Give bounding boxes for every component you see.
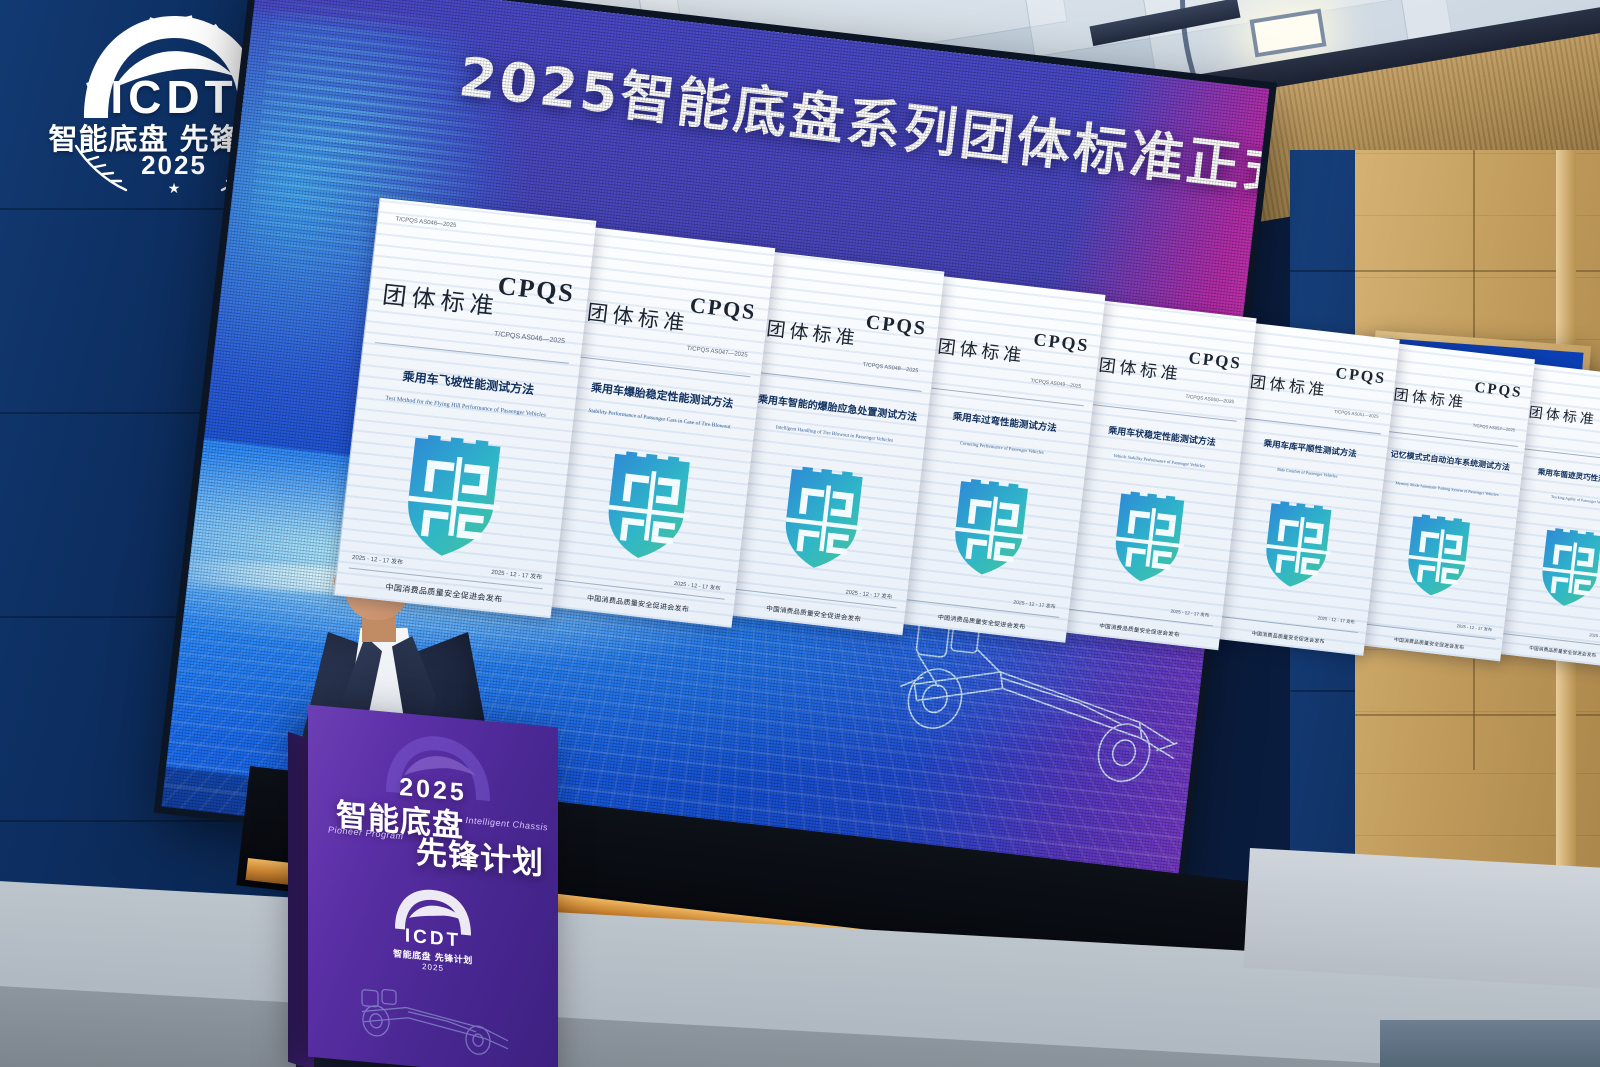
cover-kind: 团体标准 (381, 275, 501, 322)
cpqs-shield-icon (597, 441, 702, 573)
cpqs-wordmark: CPQS (865, 311, 929, 341)
cover-pub-date: 2025 - 12 - 17 发布 (845, 588, 892, 601)
cover-std-no: T/CPQS AS048—2025 (862, 362, 918, 374)
standard-covers-row: T/CPQS AS046—2025 CPQS 团体标准 T/CPQS AS046… (84, 198, 994, 618)
podium-logo-gear-icon (391, 884, 475, 938)
cpqs-shield-icon (945, 468, 1039, 589)
cover-title-cn: 记忆模式式自动泊车系统测试方法 (1385, 449, 1516, 474)
cover-pub-date: 2025 - 12 - 17 发布 (1170, 608, 1210, 618)
cpqs-shield-icon (1257, 491, 1342, 601)
cpqs-wordmark: CPQS (1188, 348, 1243, 374)
floor-below-stage (1380, 1020, 1600, 1067)
cpqs-shield-icon (775, 456, 875, 582)
cover-kind: 团体标准 (586, 296, 691, 338)
podium-front-panel: 2025 智能底盘 Intelligent Chassis Pioneer Pr… (308, 705, 558, 1067)
cover-kind: 团体标准 (1098, 351, 1183, 385)
cover-kind: 团体标准 (1528, 402, 1598, 430)
cover-title-en: Ride Comfort of Passenger Vehicles (1239, 462, 1376, 483)
stage-platform-right (1243, 848, 1600, 991)
cpqs-shield-icon (1534, 518, 1600, 618)
podium-en-line-1: Intelligent Chassis (465, 815, 548, 833)
cpqs-wordmark: CPQS (1474, 380, 1524, 402)
cpqs-shield-icon (1106, 481, 1195, 596)
cover-pub-date: 2025 - 12 - 17 发布 (491, 567, 543, 581)
cover-kind: 团体标准 (765, 314, 860, 351)
podium-car-chassis-icon (344, 980, 524, 1062)
cover-std-no: T/CPQS AS049—2025 (1030, 378, 1081, 390)
cpqs-wordmark: CPQS (1032, 329, 1090, 356)
podium-cn-line-2: 先锋计划 (416, 826, 544, 883)
cover-kind: 团体标准 (936, 332, 1026, 368)
cover-std-no: T/CPQS AS046—2025 (494, 331, 566, 346)
cpqs-wordmark: CPQS (1335, 365, 1387, 389)
cover-title-cn: 乘用车智能的爆胎应急处置测试方法 (756, 394, 919, 425)
cover-issuer: 中国消费品质量安全促进会发布 (1212, 625, 1365, 650)
cover-title-cn: 乘用车状稳定性能测试方法 (1089, 424, 1234, 452)
cover-kind: 团体标准 (1393, 383, 1468, 412)
cover-title-en: Stability Performance of Passenger Cars … (574, 406, 746, 432)
cover-title-en: Vehicle Stability Performance of Passeng… (1087, 450, 1232, 472)
cover-issuer: 中国消费品质量安全促进会发布 (543, 588, 734, 620)
cover-pub-date: 2025 - 12 - 17 发布 (1013, 598, 1056, 610)
cover-pub-date: 2025 - 12 - 17 发布 (1317, 616, 1355, 626)
podium-icdt-logo: ICDT 智能底盘 先锋计划 2025 (308, 877, 558, 984)
scene-root: ICDT 智能底盘 先锋计划 2025 ★ 2025智能底盘系列团体标准正式公布 (0, 0, 1600, 1067)
cover-title-cn: 乘用车过弯性能测试方法 (928, 408, 1082, 437)
cover-kind: 团体标准 (1249, 368, 1329, 401)
cover-std-no: T/CPQS AS052—2025 (1473, 423, 1516, 433)
cover-pub-date: 2025 - 12 - 17 发布 (1456, 623, 1492, 633)
cover-title-cn: 乘用车循迹灵巧性测试方法 (1520, 465, 1600, 489)
cover-std-no: T/CPQS AS047—2025 (687, 346, 748, 359)
cover-title-en: Cornering Performance of Passenger Vehic… (925, 436, 1079, 459)
cover-pub-date: 2025 - 12 - 17 发布 (674, 579, 721, 592)
cover-pub-date: 2025 - 12 - 17 发布 (1589, 632, 1600, 642)
cover-std-no: T/CPQS AS051—2025 (1334, 409, 1379, 419)
cover-title-en: Tracking Agility of Passenger Vehicles (1518, 491, 1600, 510)
cover-title-en: Memory Mode Automatic Parking System of … (1382, 479, 1512, 499)
cpqs-wordmark: CPQS (496, 271, 576, 309)
cover-title-en: Intelligent Handling of Tire Blowout in … (753, 423, 916, 448)
cpqs-shield-icon (396, 426, 515, 568)
cpqs-shield-icon (1399, 504, 1479, 609)
standard-cover: T/CPQS AS046—2025 CPQS 团体标准 T/CPQS AS046… (334, 198, 597, 619)
cpqs-wordmark: CPQS (689, 292, 758, 325)
cover-title-cn: 乘用车库平顺性测试方法 (1241, 437, 1379, 463)
cover-title-cn: 乘用车爆胎稳定性能测试方法 (576, 379, 748, 412)
cover-std-no: T/CPQS AS050—2025 (1185, 394, 1234, 405)
cover-header-code: T/CPQS AS046—2025 (395, 216, 457, 232)
